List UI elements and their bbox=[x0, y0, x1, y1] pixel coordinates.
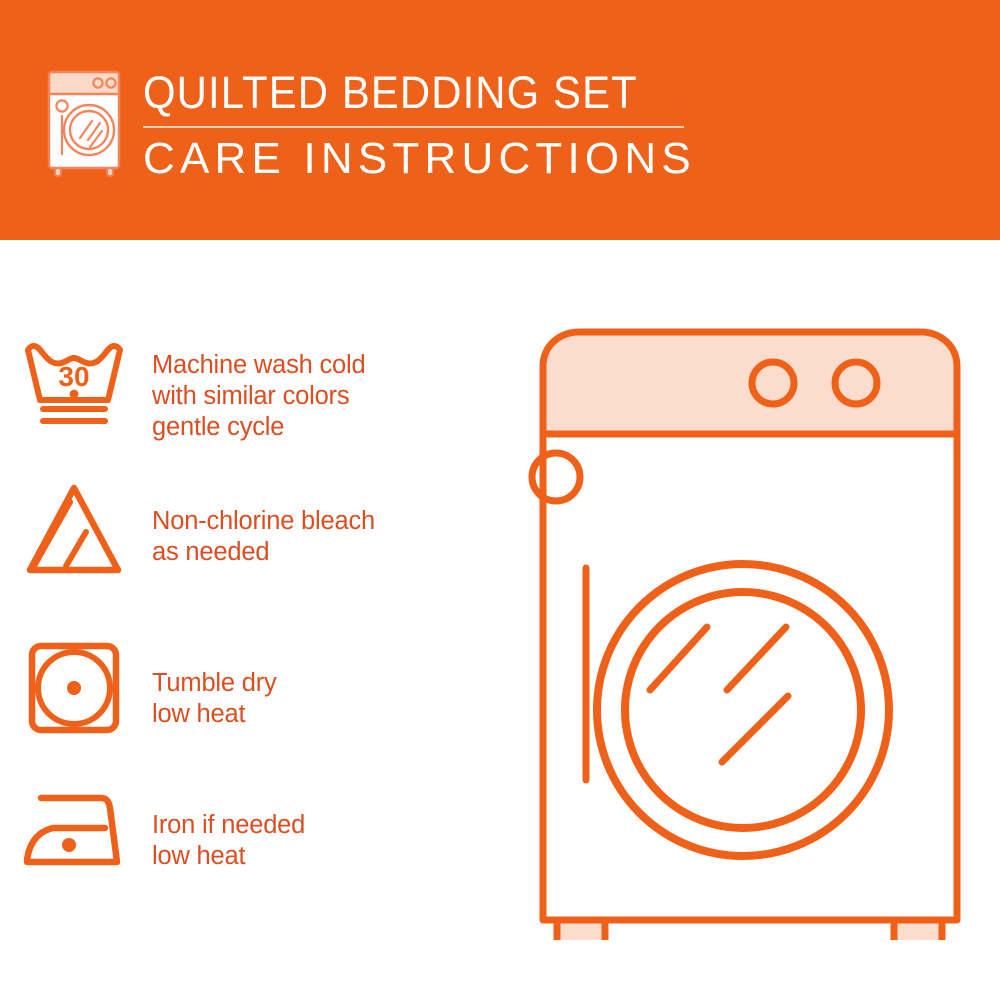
washing-machine-icon bbox=[44, 68, 132, 180]
care-label-line: with similar colors bbox=[152, 381, 365, 412]
care-row: Non-chlorine bleach as needed bbox=[0, 480, 490, 580]
gentle-dot-icon bbox=[70, 390, 79, 399]
title-divider bbox=[143, 126, 684, 128]
header-text-block: QUILTED BEDDING SET CARE INSTRUCTIONS bbox=[143, 66, 703, 185]
low-heat-dot-icon bbox=[67, 681, 81, 695]
low-heat-dot-icon bbox=[62, 838, 76, 852]
page-title: QUILTED BEDDING SET bbox=[143, 66, 664, 120]
washing-machine-illustration bbox=[480, 320, 980, 940]
care-label-line: Tumble dry bbox=[152, 668, 277, 699]
care-symbol bbox=[0, 638, 130, 738]
wash-tub-30-gentle-icon: 30 bbox=[22, 338, 126, 430]
care-label: Non-chlorine bleach as needed bbox=[130, 480, 375, 568]
care-label: Iron if needed low heat bbox=[130, 788, 305, 872]
care-row: Iron if needed low heat bbox=[0, 788, 490, 876]
care-label-line: Machine wash cold bbox=[152, 350, 365, 381]
gentle-bar-2 bbox=[40, 418, 108, 424]
non-chlorine-bleach-triangle-icon bbox=[22, 480, 126, 580]
care-label-line: as needed bbox=[152, 537, 375, 568]
care-label: Machine wash cold with similar colors ge… bbox=[130, 338, 365, 443]
care-symbol bbox=[0, 480, 130, 580]
machine-foot bbox=[894, 920, 942, 940]
care-label: Tumble dry low heat bbox=[130, 638, 277, 730]
care-label-line: Iron if needed bbox=[152, 810, 305, 841]
care-symbol: 30 bbox=[0, 338, 130, 430]
care-label-line: Non-chlorine bleach bbox=[152, 506, 375, 537]
care-label-line: gentle cycle bbox=[152, 412, 365, 443]
page-subtitle: CARE INSTRUCTIONS bbox=[143, 133, 703, 185]
gentle-bar-1 bbox=[40, 406, 108, 412]
wash-temperature-value: 30 bbox=[58, 361, 89, 392]
tumble-dry-low-icon bbox=[24, 638, 124, 738]
care-label-line: low heat bbox=[152, 841, 305, 872]
care-label-line: low heat bbox=[152, 699, 277, 730]
care-instructions-page: QUILTED BEDDING SET CARE INSTRUCTIONS 30… bbox=[0, 0, 1000, 1000]
care-instructions-list: 30 Machine wash cold with similar colors… bbox=[0, 240, 490, 1000]
machine-foot bbox=[557, 920, 605, 940]
care-row: Tumble dry low heat bbox=[0, 638, 490, 738]
care-symbol bbox=[0, 788, 130, 876]
iron-low-heat-icon bbox=[19, 788, 129, 876]
header-banner: QUILTED BEDDING SET CARE INSTRUCTIONS bbox=[0, 0, 1000, 240]
care-row: 30 Machine wash cold with similar colors… bbox=[0, 338, 490, 443]
